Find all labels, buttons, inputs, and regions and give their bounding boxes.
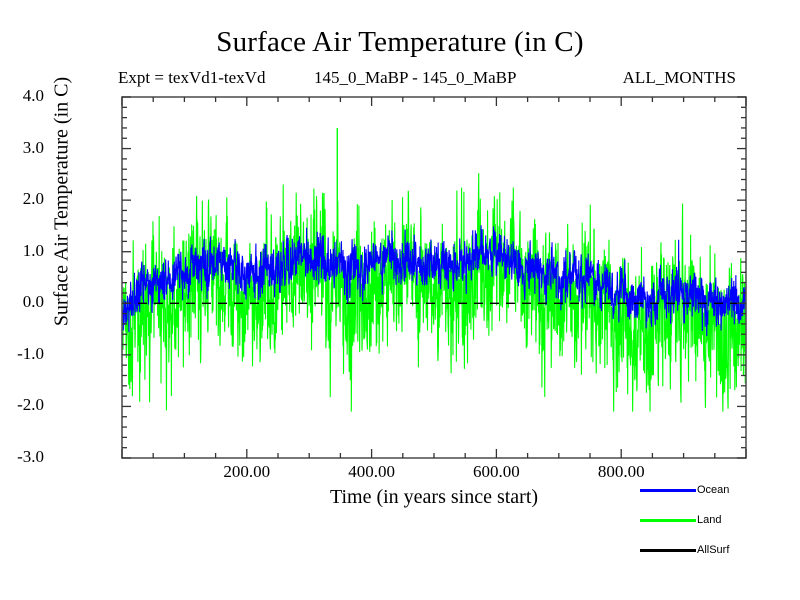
x-tick-label: 400.00: [312, 462, 432, 482]
legend-label: Land: [697, 515, 721, 526]
y-tick-label: -3.0: [0, 447, 44, 467]
y-tick-label: 0.0: [0, 292, 44, 312]
legend-swatch-land: [640, 519, 696, 522]
legend-swatch-ocean: [640, 489, 696, 492]
y-tick-label: 1.0: [0, 241, 44, 261]
y-tick-label: 4.0: [0, 86, 44, 106]
x-tick-label: 800.00: [561, 462, 681, 482]
legend-item-ocean[interactable]: Ocean: [640, 480, 790, 500]
y-tick-label: 2.0: [0, 189, 44, 209]
x-tick-label: 600.00: [436, 462, 556, 482]
legend-item-land[interactable]: Land: [640, 510, 790, 530]
y-tick-label: -2.0: [0, 395, 44, 415]
legend-item-allsurf[interactable]: AllSurf: [640, 540, 790, 560]
y-tick-label: -1.0: [0, 344, 44, 364]
legend-label: Ocean: [697, 485, 729, 496]
x-tick-label: 200.00: [187, 462, 307, 482]
legend-swatch-allsurf: [640, 549, 696, 552]
legend-label: AllSurf: [697, 545, 729, 556]
y-tick-label: 3.0: [0, 138, 44, 158]
chart-figure: Surface Air Temperature (in C) Expt = te…: [0, 0, 800, 600]
chart-legend: OceanLandAllSurf: [640, 480, 790, 566]
